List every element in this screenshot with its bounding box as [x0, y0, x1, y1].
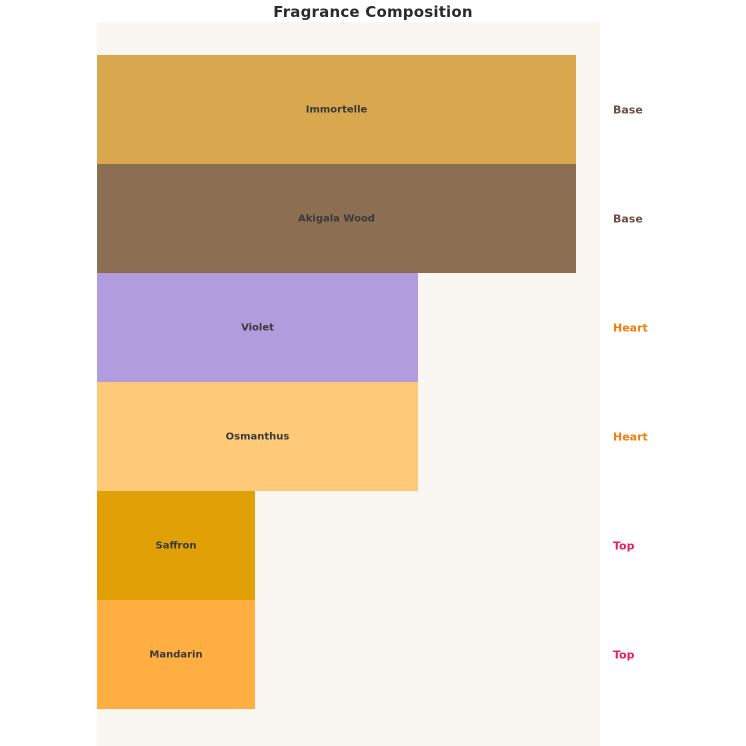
- bar-label: Akigala Wood: [97, 213, 576, 224]
- bar-osmanthus[interactable]: Osmanthus: [97, 382, 418, 491]
- note-group-label-top: Top: [613, 648, 634, 661]
- bar-label: Osmanthus: [97, 431, 418, 442]
- bar-immortelle[interactable]: Immortelle: [97, 55, 576, 164]
- fragrance-composition-chart: Fragrance Composition ImmortelleAkigala …: [0, 0, 746, 746]
- bar-violet[interactable]: Violet: [97, 273, 418, 382]
- bar-label: Mandarin: [97, 649, 255, 660]
- chart-title: Fragrance Composition: [0, 2, 746, 22]
- bar-saffron[interactable]: Saffron: [97, 491, 255, 600]
- bar-mandarin[interactable]: Mandarin: [97, 600, 255, 709]
- note-group-label-base: Base: [613, 103, 643, 116]
- bar-akigala-wood[interactable]: Akigala Wood: [97, 164, 576, 273]
- bar-label: Saffron: [97, 540, 255, 551]
- bar-label: Immortelle: [97, 104, 576, 115]
- note-group-label-top: Top: [613, 539, 634, 552]
- bar-label: Violet: [97, 322, 418, 333]
- note-group-label-base: Base: [613, 212, 643, 225]
- note-group-label-heart: Heart: [613, 430, 648, 443]
- plot-area: ImmortelleAkigala WoodVioletOsmanthusSaf…: [97, 22, 600, 746]
- note-group-label-heart: Heart: [613, 321, 648, 334]
